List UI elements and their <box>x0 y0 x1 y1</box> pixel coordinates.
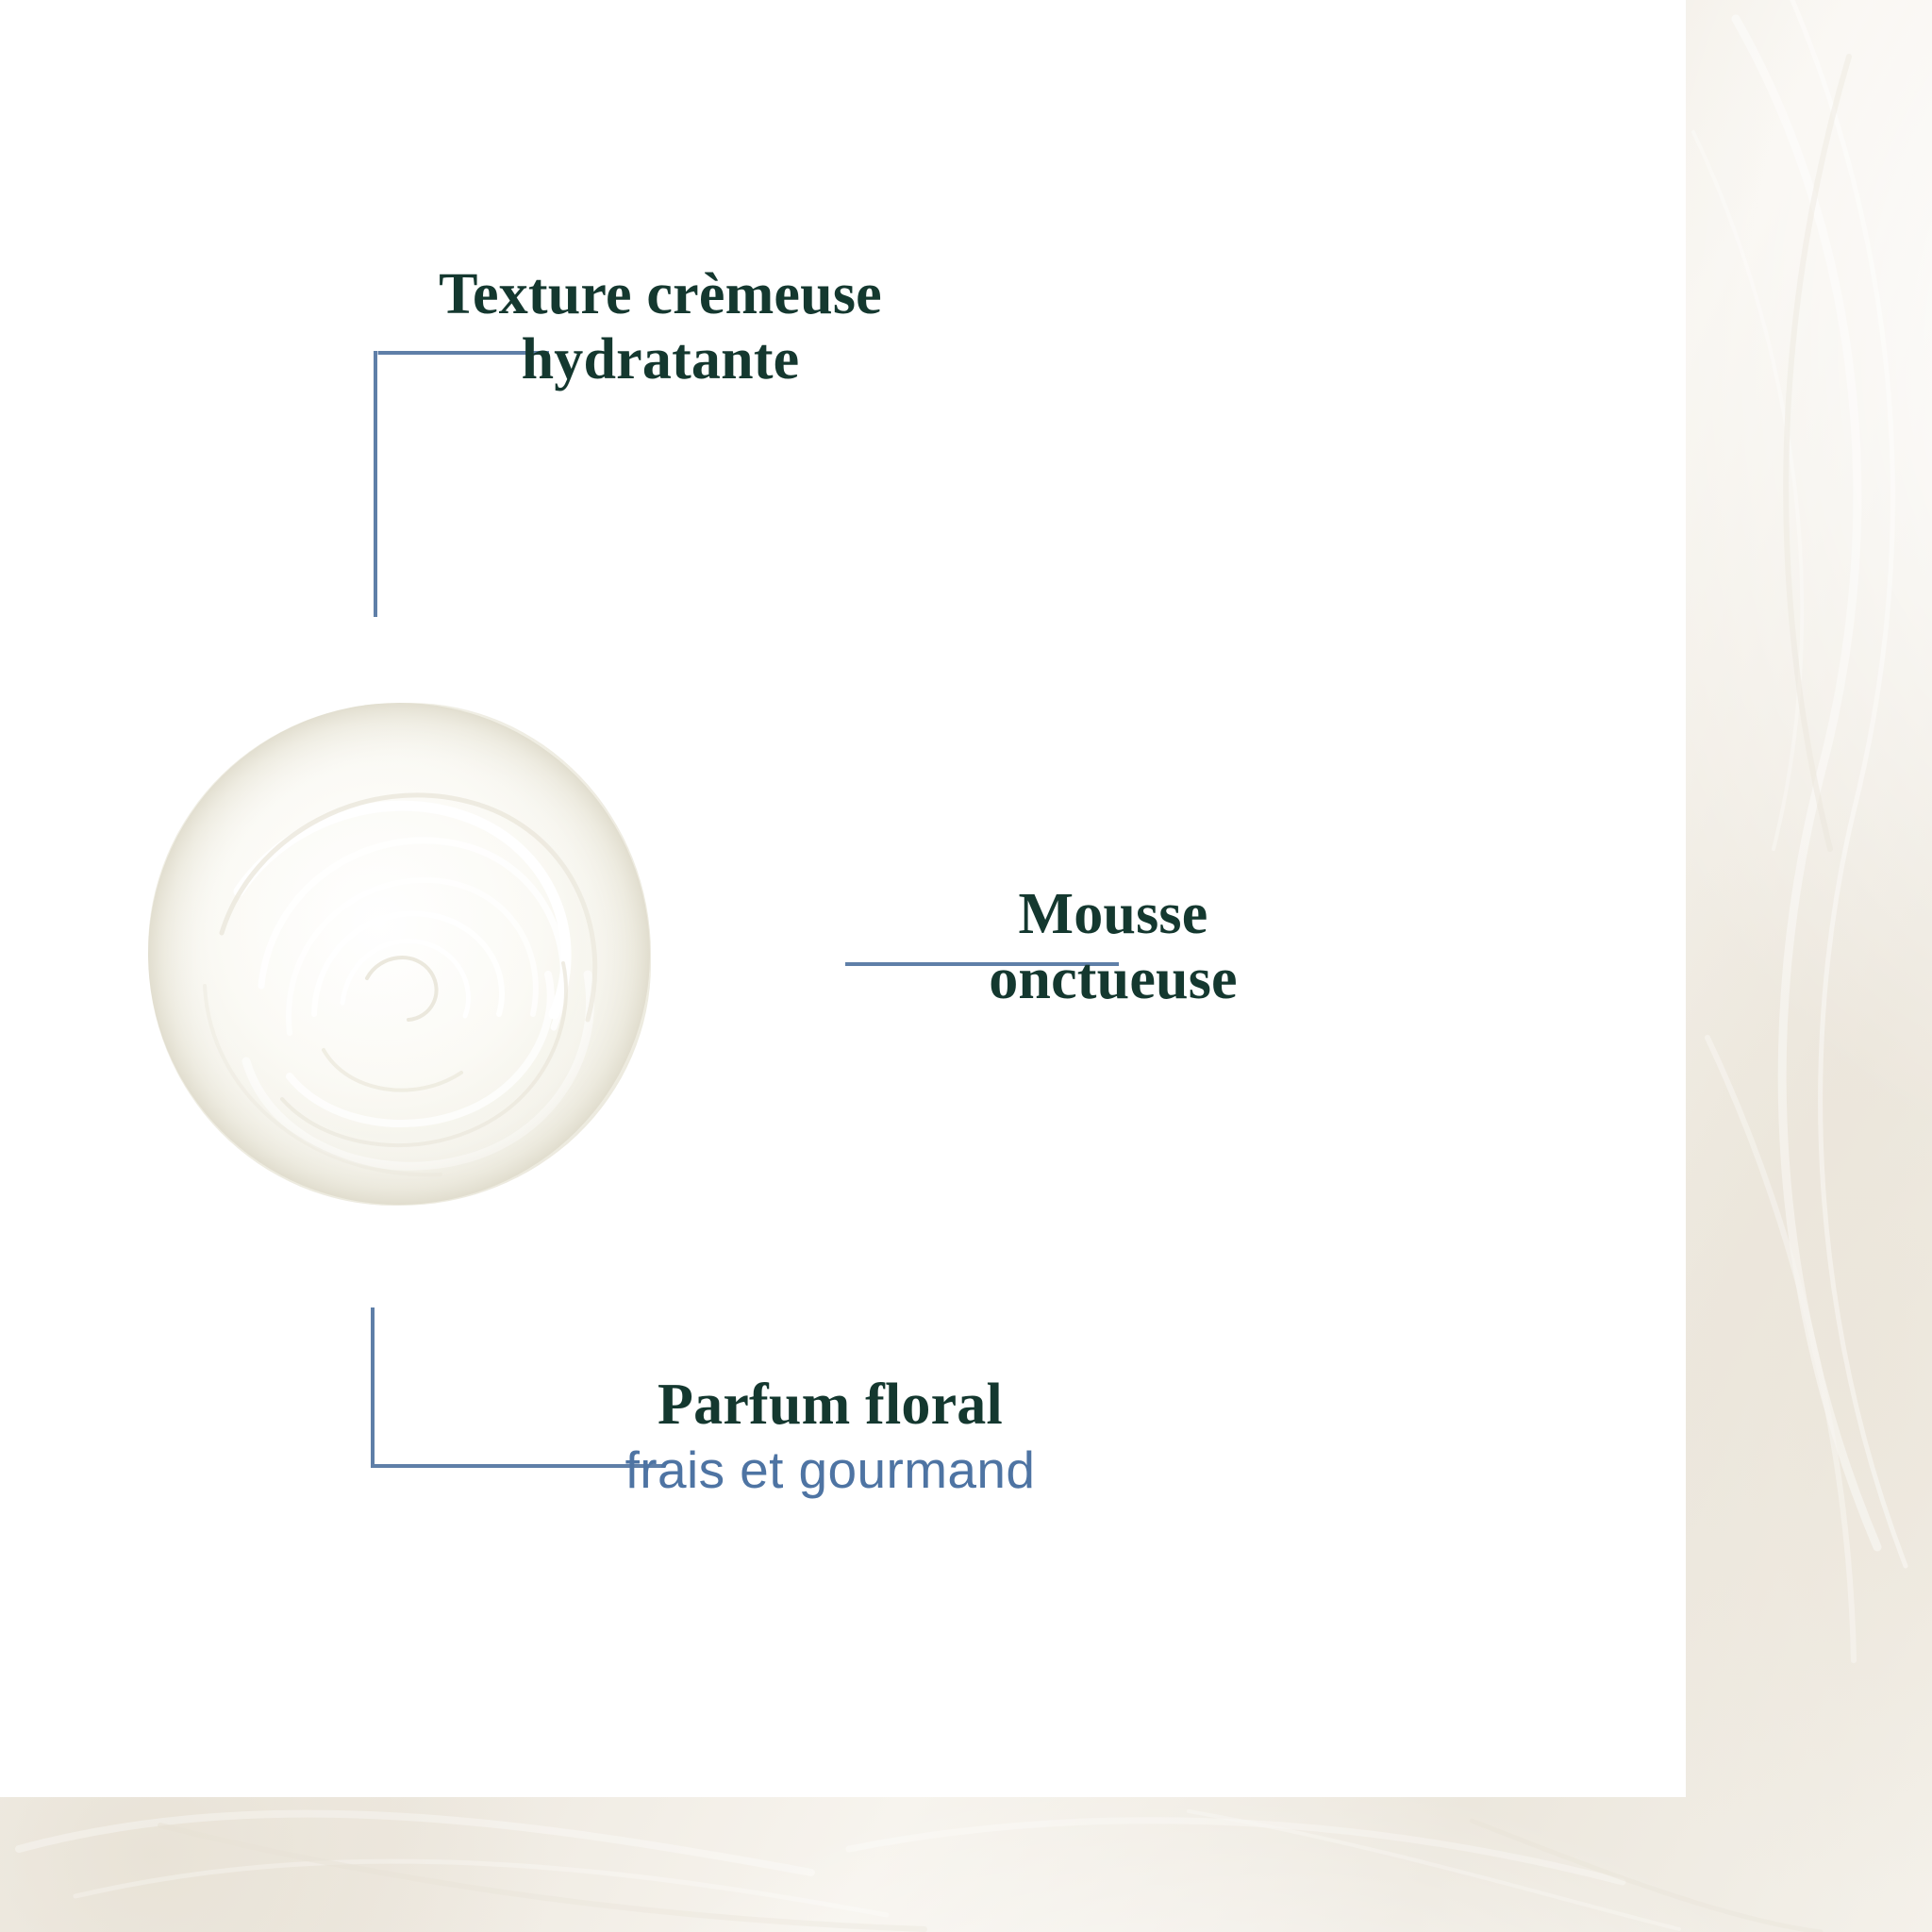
product-feature-graphic: Texture crèmeuse hydratante Mousse onctu… <box>0 0 1932 1932</box>
cream-swatch <box>148 703 651 1206</box>
callout-texture-headline-line2: hydratante <box>522 327 800 391</box>
callout-mousse-headline: Mousse onctueuse <box>906 882 1321 1013</box>
callout-parfum-subline: frais et gourmand <box>528 1441 1132 1500</box>
connector-parfum-vertical <box>371 1307 375 1468</box>
callout-texture-headline-line1: Texture crèmeuse <box>439 262 882 326</box>
callout-parfum: Parfum floral frais et gourmand <box>528 1373 1132 1500</box>
callout-mousse-headline-line2: onctueuse <box>989 947 1238 1011</box>
cream-swatch-body <box>148 703 651 1206</box>
callout-parfum-headline: Parfum floral <box>528 1373 1132 1438</box>
callout-texture: Texture crèmeuse hydratante <box>415 262 906 393</box>
connector-texture-vertical <box>374 351 377 617</box>
callout-texture-headline: Texture crèmeuse hydratante <box>415 262 906 393</box>
cream-swirl-detail <box>148 703 651 1206</box>
callout-mousse: Mousse onctueuse <box>906 882 1321 1013</box>
callout-mousse-headline-line1: Mousse <box>1019 882 1208 946</box>
